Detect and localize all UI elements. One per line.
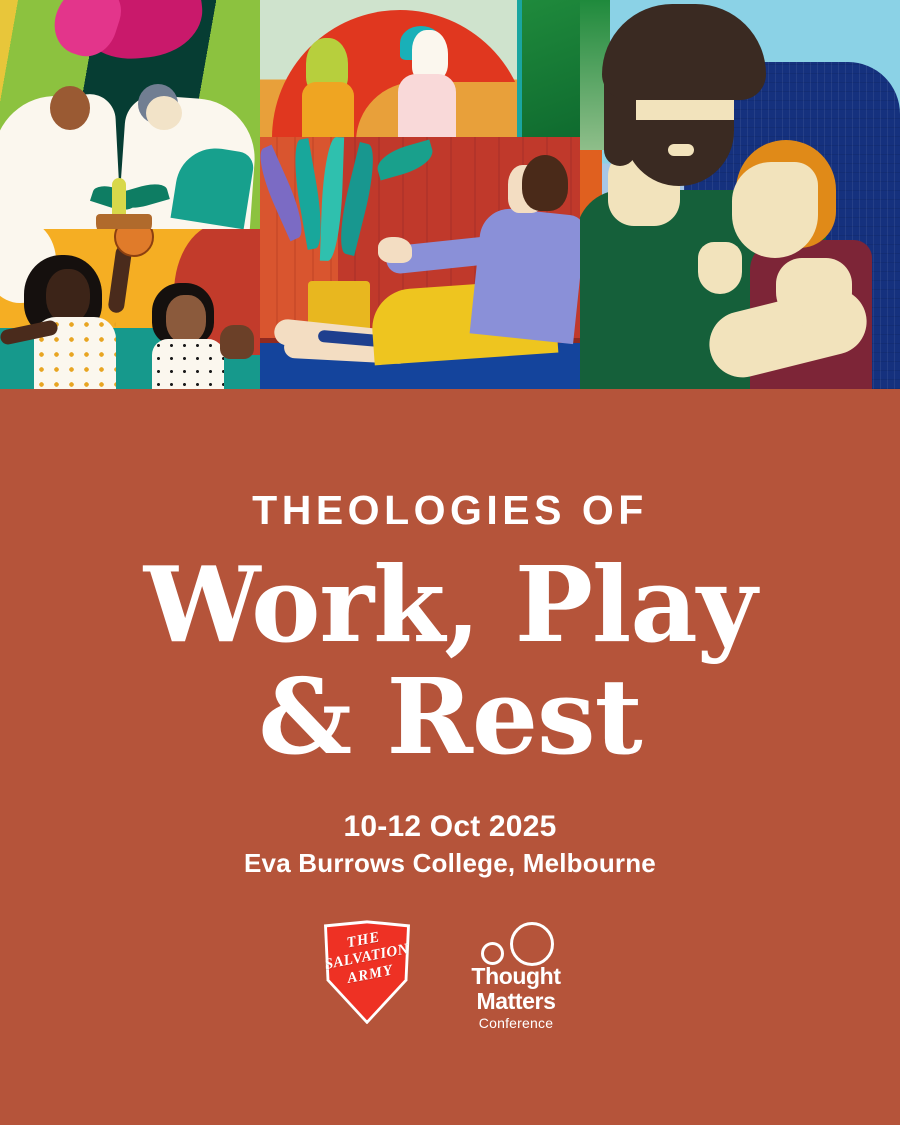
logo-row: THE SALVATION ARMY Thought Matters Confe… [324, 920, 576, 1024]
child-small-hand [698, 242, 742, 294]
woman-hair [522, 155, 568, 211]
resting-woman-panel [260, 137, 580, 389]
figure-two-face [412, 30, 448, 80]
father-child-panel [580, 0, 900, 389]
gardener-right-face [146, 96, 182, 130]
eyebrow-text: THEOLOGIES OF [252, 490, 648, 531]
small-circle-icon [481, 942, 504, 965]
two-figures-panel [260, 0, 580, 137]
headline-line-2: & Rest [144, 661, 756, 773]
header-collage [0, 0, 900, 389]
logo-line-thought: Thought [456, 964, 576, 988]
child-two-hand [220, 325, 254, 359]
conference-poster: THEOLOGIES OF Work, Play & Rest 10-12 Oc… [0, 0, 900, 1125]
figure-one-body [302, 82, 354, 137]
father-mouth [668, 144, 694, 156]
logo-line-matters: Matters [456, 989, 576, 1013]
green-leaf-strip [522, 0, 580, 137]
child-face [732, 162, 818, 258]
gardener-left-head [50, 86, 90, 130]
event-date: 10-12 Oct 2025 [244, 808, 656, 846]
child-one-face [46, 269, 90, 323]
children-play-panel [0, 229, 260, 389]
thought-matters-conference-logo[interactable]: Thought Matters Conference [456, 920, 576, 1024]
child-two-dress-dots [152, 339, 224, 389]
woman-hand [378, 237, 412, 263]
figure-two-body [398, 74, 456, 137]
headline-line-1: Work, Play [144, 549, 756, 661]
large-circle-icon [510, 922, 554, 966]
event-venue: Eva Burrows College, Melbourne [244, 846, 656, 880]
gardening-panel [0, 0, 260, 229]
poster-content: THEOLOGIES OF Work, Play & Rest 10-12 Oc… [0, 389, 900, 1125]
page-title: Work, Play & Rest [144, 549, 756, 774]
father-hand [776, 258, 852, 326]
event-details: 10-12 Oct 2025 Eva Burrows College, Melb… [244, 808, 656, 881]
plant-pot [96, 214, 152, 229]
logo-line-conference: Conference [456, 1014, 576, 1032]
salvation-army-shield-logo[interactable]: THE SALVATION ARMY [324, 920, 410, 1024]
woman-blue-top [470, 206, 580, 344]
child-two-face [166, 295, 206, 343]
thought-matters-wordmark: Thought Matters Conference [456, 964, 576, 1032]
